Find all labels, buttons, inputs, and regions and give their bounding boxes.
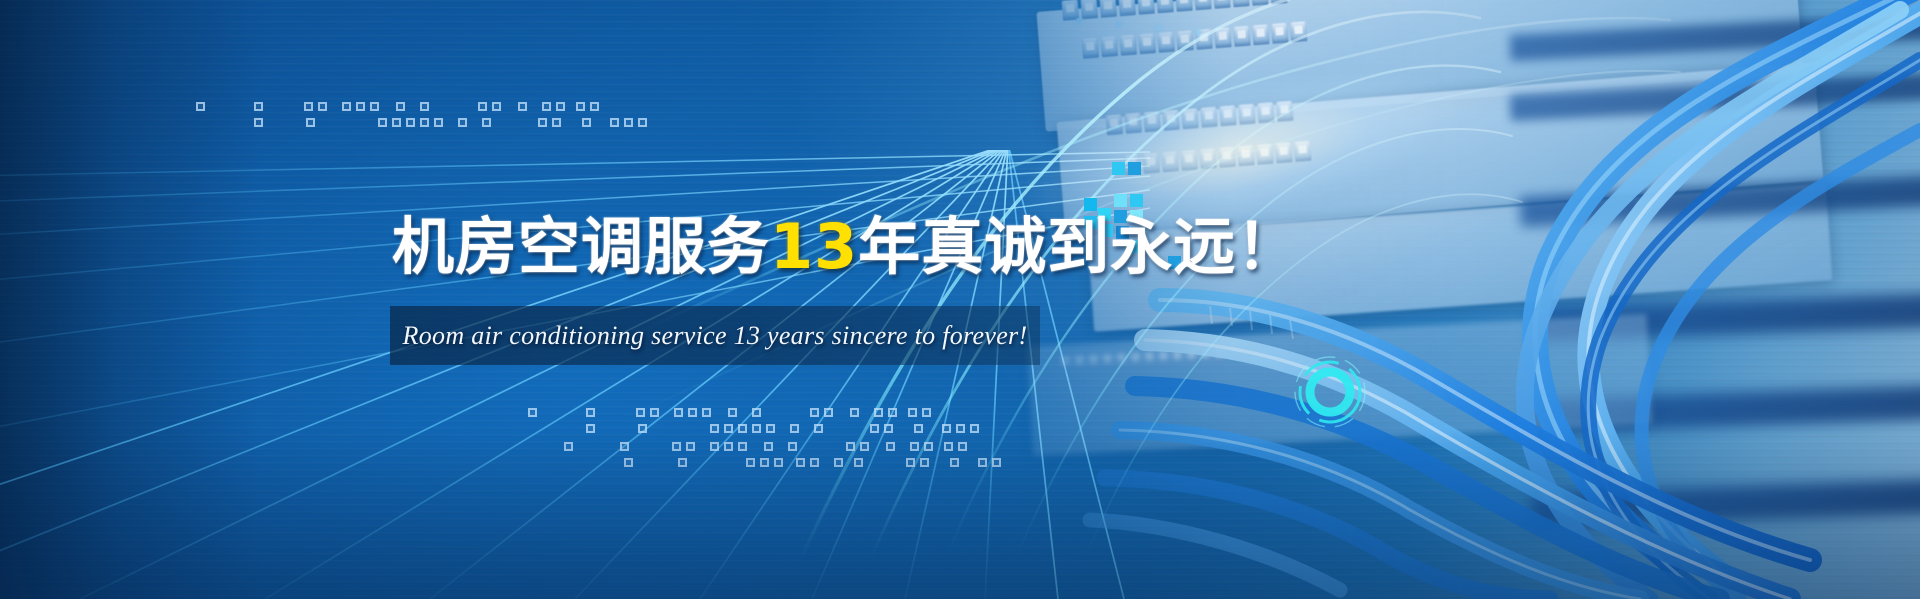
page-title: 机房空调服务13年真诚到永远！ — [392, 196, 1299, 286]
headline-number: 13 — [770, 210, 858, 283]
mosaic-square — [1128, 162, 1141, 175]
tech-ring-hud — [1288, 350, 1372, 434]
hollow-square-dot-pattern-top — [196, 102, 616, 134]
headline-suffix: 年真诚到永远！ — [858, 210, 1299, 283]
hero-banner: 机房空调服务13年真诚到永远！ Room air conditioning se… — [0, 0, 1920, 599]
subtitle-bar: Room air conditioning service 13 years s… — [390, 306, 1040, 365]
background-bottom-vignette — [0, 429, 1920, 599]
headline-prefix: 机房空调服务 — [392, 210, 770, 283]
subtitle-text: Room air conditioning service 13 years s… — [403, 321, 1028, 351]
mosaic-square — [1112, 162, 1125, 175]
